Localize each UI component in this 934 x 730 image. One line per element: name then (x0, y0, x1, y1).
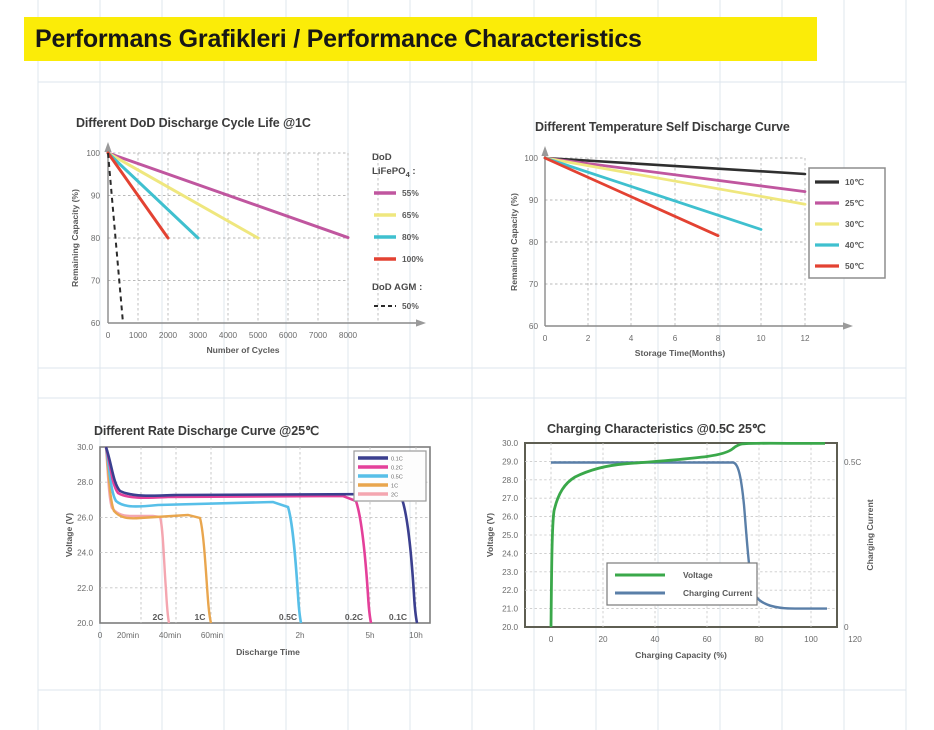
chart-dod-cycle-life: Different DoD Discharge Cycle Life @1C (48, 108, 468, 358)
legend-box (607, 563, 757, 605)
legend-label-1c: 1C (391, 484, 398, 490)
legend-label-charging-current: Charging Current (683, 588, 753, 598)
legend-label-05c: 0.5C (391, 475, 403, 481)
y-tick: 60 (91, 319, 101, 328)
chart-temp-svg: 100 90 80 70 60 0 2 4 6 8 10 12 Storage … (495, 108, 895, 358)
x-tick: 0 (106, 331, 111, 340)
y-tick: 24.0 (502, 549, 518, 558)
y-axis-arrow (541, 146, 548, 156)
y-tick: 100 (86, 149, 100, 158)
series-curve-02c (106, 447, 371, 623)
legend-label-25c: 25℃ (845, 198, 864, 208)
y-tick: 26.0 (77, 513, 93, 522)
chart-title-temp: Different Temperature Self Discharge Cur… (535, 120, 790, 134)
gridlines (108, 153, 378, 323)
x-axis-label: Storage Time(Months) (635, 348, 726, 358)
y-tick: 26.0 (502, 513, 518, 522)
x-tick: 0 (549, 635, 554, 644)
chart-rate-svg: 30.0 28.0 26.0 24.0 22.0 20.0 2C 1C 0.5C… (48, 415, 468, 680)
y-axis-label: Voltage (V) (64, 513, 74, 557)
inplot-label-02c: 0.2C (345, 612, 363, 622)
y-tick: 25.0 (502, 531, 518, 540)
y2-axis-label: Charging Current (865, 499, 875, 570)
series-curve-1c (106, 447, 211, 623)
x-tick: 40min (159, 631, 182, 640)
y-tick: 27.0 (502, 494, 518, 503)
chart-title-dod: Different DoD Discharge Cycle Life @1C (76, 116, 311, 130)
y-tick: 80 (91, 234, 101, 243)
legend-label-01c: 0.1C (391, 457, 403, 463)
y-tick: 20.0 (502, 623, 518, 632)
legend-label-100: 100% (402, 254, 424, 264)
chart-title-charging: Charging Characteristics @0.5C 25℃ (547, 421, 766, 436)
x-axis-label: Number of Cycles (206, 345, 279, 355)
inplot-label-2c: 2C (153, 612, 164, 622)
inplot-label-05c: 0.5C (279, 612, 297, 622)
gridlines (545, 158, 805, 326)
x-tick: 10h (409, 631, 423, 640)
x-tick: 2h (295, 631, 305, 640)
chart-charging-characteristics: Charging Characteristics @0.5C 25℃ 30.0 (455, 415, 895, 680)
x-axis-label: Charging Capacity (%) (635, 650, 727, 660)
x-tick: 60min (201, 631, 224, 640)
y-tick: 23.0 (502, 568, 518, 577)
y-tick: 22.0 (502, 586, 518, 595)
x-tick: 2000 (159, 331, 178, 340)
y-axis-label: Remaining Capacity (%) (70, 189, 80, 287)
legend-label-50c: 50℃ (845, 261, 864, 271)
y2-tick-bottom: 0 (844, 623, 849, 632)
inplot-label-01c: 0.1C (389, 612, 407, 622)
x-tick: 3000 (189, 331, 208, 340)
x-axis-arrow (416, 319, 426, 326)
x-tick: 40 (650, 635, 660, 644)
y-tick: 70 (91, 277, 101, 286)
inplot-label-1c: 1C (195, 612, 206, 622)
y-tick: 30.0 (502, 439, 518, 448)
x-tick: 6 (673, 334, 678, 343)
legend-label-65: 65% (402, 210, 419, 220)
x-tick: 10 (756, 334, 766, 343)
y2-tick-top: 0.5C (844, 458, 861, 467)
x-tick: 5000 (249, 331, 268, 340)
y-tick: 60 (529, 322, 539, 331)
x-tick: 20min (117, 631, 140, 640)
y-axis-arrow (104, 142, 111, 152)
y-tick: 90 (91, 192, 101, 201)
y-tick: 80 (529, 238, 539, 247)
chart-dod-svg: 100 90 80 70 60 0 1000 2000 3000 4000 50… (48, 108, 468, 358)
legend-label-30c: 30℃ (845, 219, 864, 229)
chart-rate-discharge: Different Rate Discharge Curve @25℃ 30.0… (48, 415, 468, 680)
x-tick: 8000 (339, 331, 358, 340)
legend-label-40c: 40℃ (845, 240, 864, 250)
x-tick: 5h (365, 631, 375, 640)
x-tick: 100 (804, 635, 818, 644)
legend-header-secondary: DoD AGM : (372, 282, 422, 293)
legend-label-02c: 0.2C (391, 466, 403, 472)
x-axis-label: Discharge Time (236, 647, 300, 657)
series-curve-2c (106, 447, 169, 623)
chart-charging-svg: 30.0 29.0 28.0 27.0 26.0 25.0 24.0 23.0 … (455, 415, 895, 680)
legend-header-primary-sub: LiFePO4 : (372, 166, 416, 179)
y-tick: 20.0 (77, 619, 93, 628)
page-title: Performans Grafikleri / Performance Char… (24, 25, 642, 54)
y-tick: 90 (529, 196, 539, 205)
legend-label-2c: 2C (391, 493, 398, 499)
x-tick: 2 (586, 334, 591, 343)
y-tick: 24.0 (77, 549, 93, 558)
x-tick: 1000 (129, 331, 148, 340)
y-axis-label: Voltage (V) (485, 513, 495, 557)
legend-header-primary: DoD (372, 152, 392, 163)
legend-label-55: 55% (402, 188, 419, 198)
y-tick: 28.0 (77, 478, 93, 487)
legend-label-80: 80% (402, 232, 419, 242)
y-tick: 70 (529, 280, 539, 289)
y-axis-label: Remaining Capacity (%) (509, 193, 519, 291)
x-tick: 0 (543, 334, 548, 343)
x-tick: 60 (702, 635, 712, 644)
x-tick: 120 (848, 635, 862, 644)
x-tick: 6000 (279, 331, 298, 340)
x-tick: 80 (754, 635, 764, 644)
legend-label-agm-50: 50% (402, 301, 419, 311)
x-tick: 7000 (309, 331, 328, 340)
x-tick: 0 (98, 631, 103, 640)
y-tick: 29.0 (502, 457, 518, 466)
x-tick: 12 (800, 334, 810, 343)
x-tick: 20 (598, 635, 608, 644)
y-tick: 22.0 (77, 584, 93, 593)
chart-temperature-self-discharge: Different Temperature Self Discharge Cur… (495, 108, 895, 358)
page-title-band: Performans Grafikleri / Performance Char… (24, 17, 817, 61)
x-tick: 4000 (219, 331, 238, 340)
legend-label-voltage: Voltage (683, 570, 713, 580)
y-tick: 100 (524, 154, 538, 163)
y-tick: 21.0 (502, 605, 518, 614)
x-tick: 8 (716, 334, 721, 343)
chart-title-rate: Different Rate Discharge Curve @25℃ (94, 423, 319, 438)
legend-label-10c: 10℃ (845, 177, 864, 187)
x-axis-arrow (843, 322, 853, 329)
x-tick: 4 (629, 334, 634, 343)
y-tick: 28.0 (502, 476, 518, 485)
y-tick: 30.0 (77, 443, 93, 452)
